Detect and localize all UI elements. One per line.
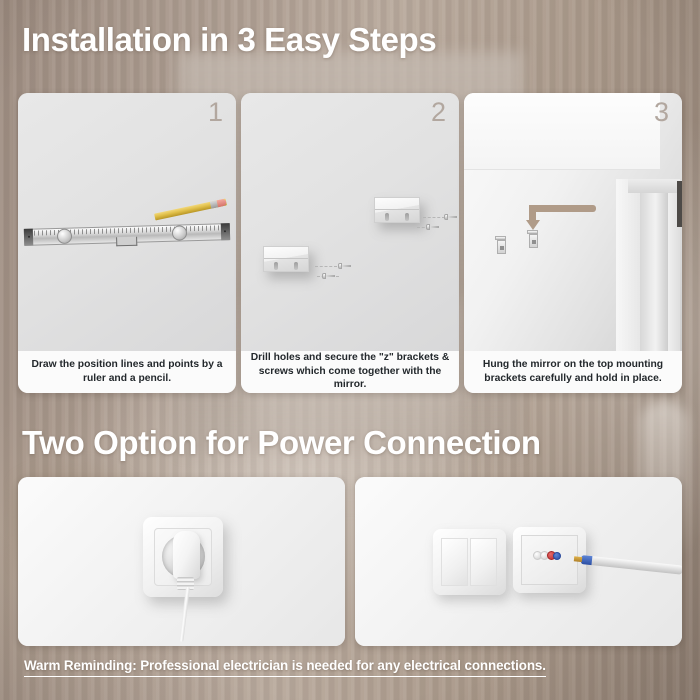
power-option-panel-2 xyxy=(355,477,682,646)
product-infographic-poster: Installation in 3 Easy Steps 1 Draw the … xyxy=(0,0,700,700)
headline-power-connection: Two Option for Power Connection xyxy=(22,424,541,462)
step-caption-1: Draw the position lines and points by a … xyxy=(18,351,236,393)
direction-arrow-icon xyxy=(529,205,596,212)
mounting-hook-icon xyxy=(527,230,538,249)
mounting-hook-icon xyxy=(495,236,506,255)
wall-surface xyxy=(18,93,236,351)
door-gap-shadow xyxy=(677,181,682,227)
step-1-photo xyxy=(18,93,236,351)
light-switch-icon xyxy=(433,529,506,595)
screw-guide-line xyxy=(315,266,337,267)
z-bracket-icon xyxy=(263,246,309,272)
step-number-3: 3 xyxy=(654,96,669,128)
step-caption-2: Drill holes and secure the "z" brackets … xyxy=(241,351,459,393)
step-number-2: 2 xyxy=(431,96,446,128)
power-plug-icon xyxy=(173,531,200,579)
wall-upper-panel xyxy=(464,93,660,170)
screw-icon xyxy=(426,224,439,230)
step-card-3: 3 Hung the mirror on the top mounting br… xyxy=(464,93,682,393)
step-number-1: 1 xyxy=(208,96,223,128)
step-card-1: 1 Draw the position lines and points by … xyxy=(18,93,236,393)
power-option-panel-1 xyxy=(18,477,345,646)
screw-icon xyxy=(322,273,335,279)
direction-arrow-icon xyxy=(526,220,540,230)
screw-icon xyxy=(444,214,457,220)
screw-icon xyxy=(338,263,351,269)
door-leaf xyxy=(640,193,668,351)
screw-guide-line xyxy=(423,217,445,218)
warning-note: Warm Reminding: Professional electrician… xyxy=(24,658,546,677)
headline-installation-steps: Installation in 3 Easy Steps xyxy=(22,21,436,59)
wall-surface xyxy=(241,93,459,351)
step-card-2: 2 Drill holes and secure the "z" bracket… xyxy=(241,93,459,393)
step-caption-3: Hung the mirror on the top mounting brac… xyxy=(464,351,682,393)
door-header xyxy=(628,179,680,193)
step-2-photo xyxy=(241,93,459,351)
step-3-photo xyxy=(464,93,682,351)
z-bracket-icon xyxy=(374,197,420,223)
wall-socket-icon xyxy=(143,517,223,597)
